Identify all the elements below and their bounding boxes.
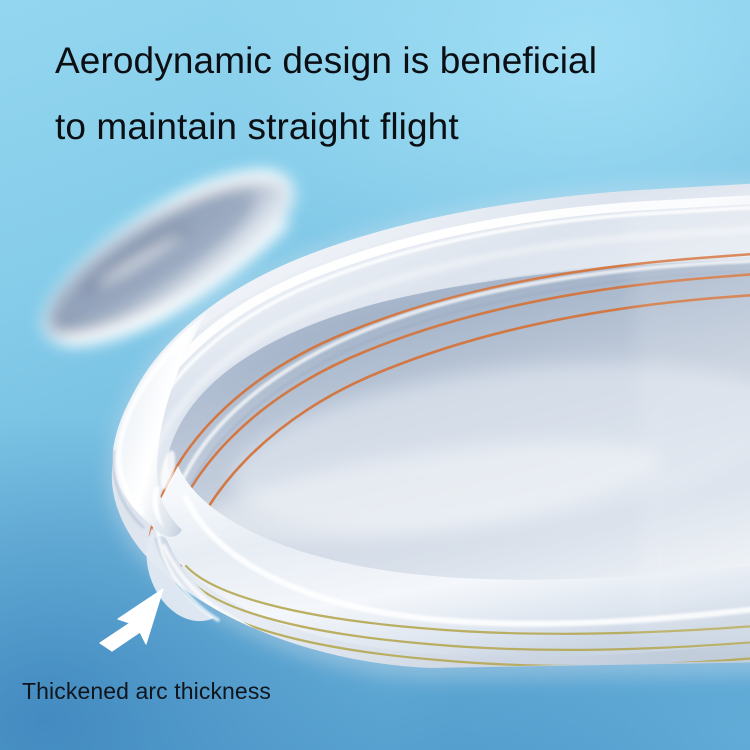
callout-arrow [100,589,163,651]
image-canvas: Aerodynamic design is beneficial to main… [0,0,750,750]
callout-caption: Thickened arc thickness [22,676,271,706]
page-title: Aerodynamic design is beneficial to main… [55,28,735,160]
